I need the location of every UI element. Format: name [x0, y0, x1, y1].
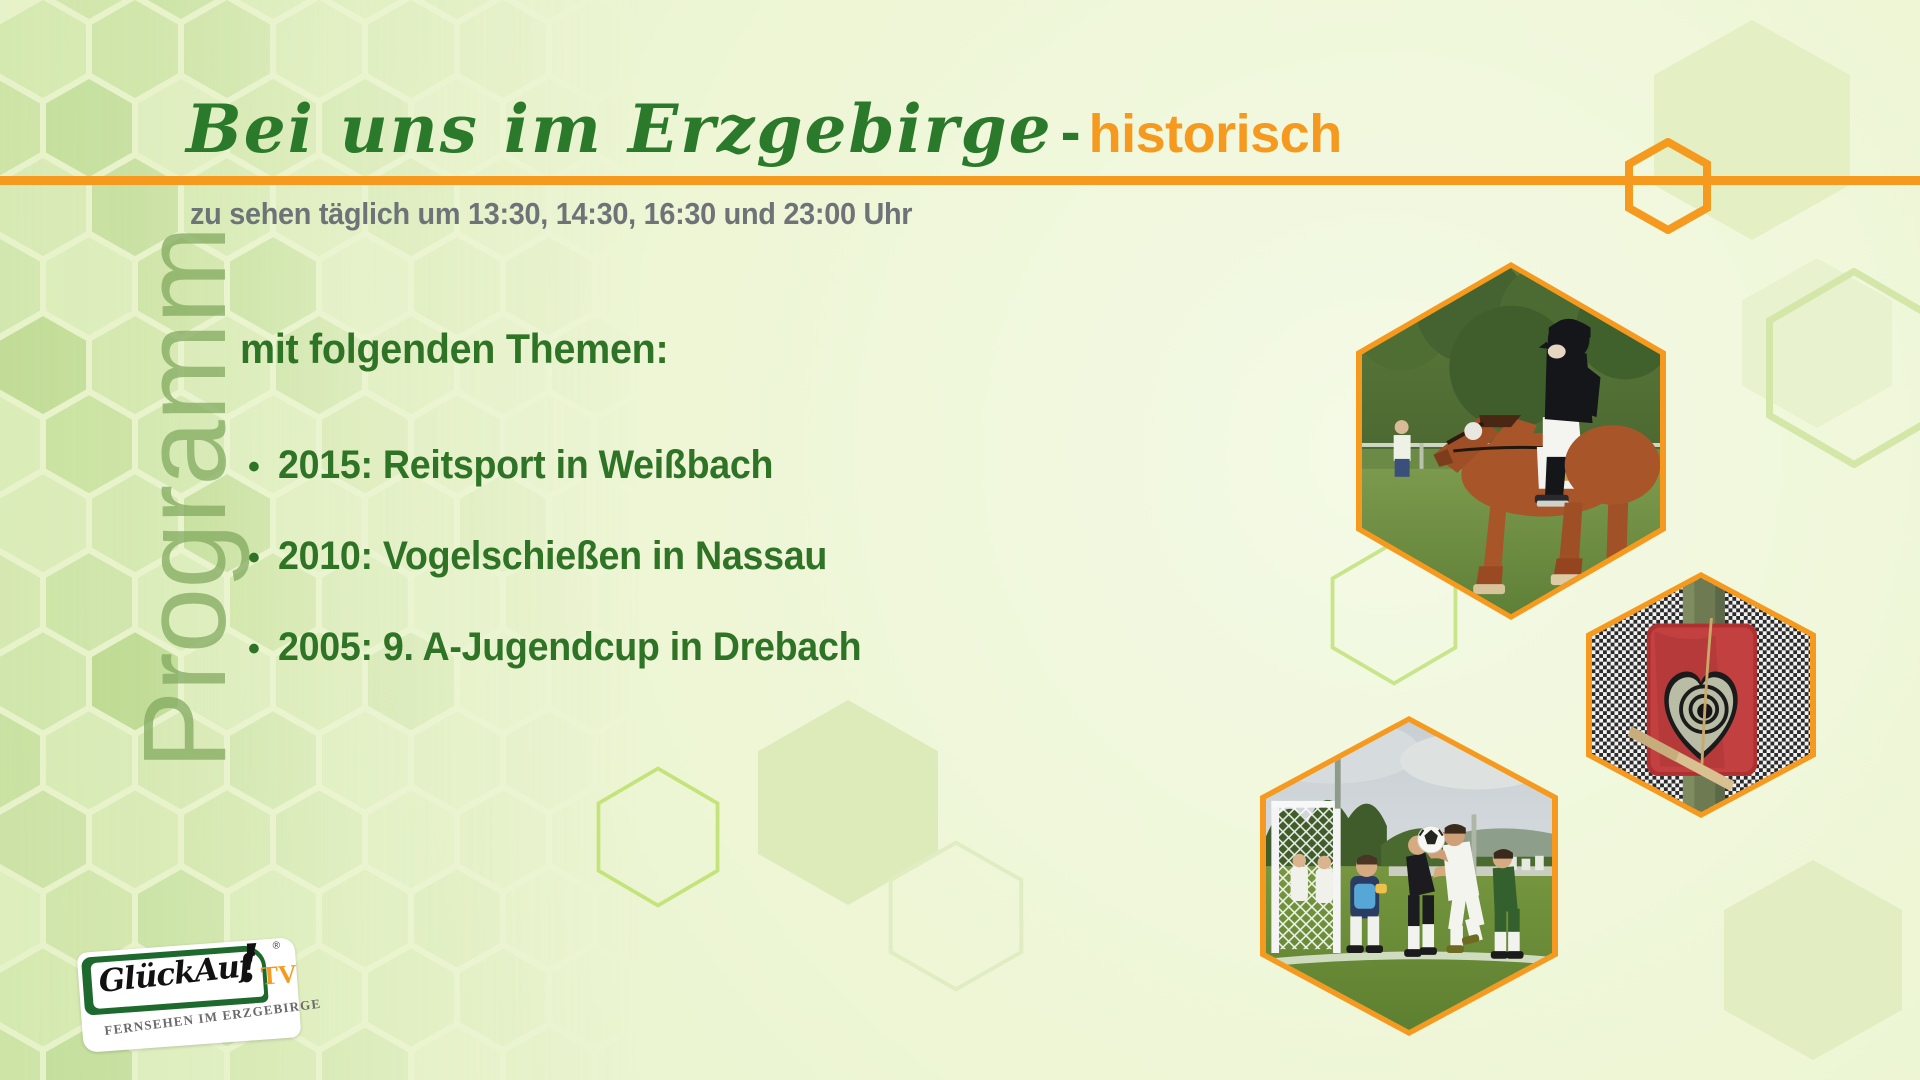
honeycomb-cell [690, 0, 776, 19]
honeycomb-cell [690, 237, 776, 335]
honeycomb-cell [92, 474, 178, 572]
honeycomb-cell [644, 0, 730, 98]
header-rule-hexagon-icon [1625, 138, 1711, 234]
logo-tv-text: TV [260, 959, 298, 992]
logo-registered-icon: ® [272, 940, 280, 952]
page-title: Bei uns im Erzgebirge-historisch [186, 96, 1342, 162]
honeycomb-cell [138, 553, 224, 651]
honeycomb-cell [0, 948, 86, 1046]
topic-label: 2015: Reitsport in Weißbach [278, 443, 773, 488]
honeycomb-cell [322, 237, 408, 335]
page-title-main: Bei uns im Erzgebirge [186, 90, 1053, 168]
broadcast-slide: Programm Bei uns im Erzgebirge-historisc… [0, 0, 1920, 1080]
decorative-hexagon-outline [1766, 268, 1920, 468]
honeycomb-cell [92, 790, 178, 888]
honeycomb-cell [46, 553, 132, 651]
honeycomb-cell [0, 632, 86, 730]
honeycomb-cell [782, 0, 868, 19]
photo-shooting-target [1586, 572, 1816, 818]
honeycomb-cell [0, 0, 86, 98]
decorative-hexagon-filled [1724, 860, 1902, 1060]
honeycomb-cell [368, 0, 454, 98]
honeycomb-cell [414, 237, 500, 335]
topics-list: • 2015: Reitsport in Weißbach • 2010: Vo… [248, 443, 899, 716]
honeycomb-cell [552, 0, 638, 98]
photo-equestrian [1356, 262, 1666, 620]
honeycomb-cell [506, 237, 592, 335]
page-title-accent: historisch [1089, 104, 1342, 164]
honeycomb-cell [92, 632, 178, 730]
honeycomb-cell [322, 711, 408, 809]
honeycomb-cell [736, 316, 822, 414]
honeycomb-cell [46, 711, 132, 809]
logo-exclamation-icon: ! [236, 938, 263, 992]
honeycomb-cell [184, 0, 270, 98]
honeycomb-cell [276, 790, 362, 888]
bullet-marker-icon: • [248, 541, 278, 575]
list-item: • 2010: Vogelschießen in Nassau [248, 534, 899, 579]
honeycomb-cell [138, 237, 224, 335]
honeycomb-cell [782, 1028, 868, 1080]
decorative-hexagon-outline [888, 840, 1024, 992]
honeycomb-cell [230, 237, 316, 335]
list-item: • 2005: 9. A-Jugendcup in Drebach [248, 625, 899, 670]
honeycomb-cell [46, 237, 132, 335]
honeycomb-cell [230, 711, 316, 809]
honeycomb-cell [322, 869, 408, 967]
honeycomb-cell [460, 948, 546, 1046]
honeycomb-cell [0, 316, 86, 414]
honeycomb-cell [368, 790, 454, 888]
honeycomb-cell [276, 0, 362, 98]
honeycomb-cell [138, 711, 224, 809]
honeycomb-cell [736, 0, 822, 98]
honeycomb-cell [0, 474, 86, 572]
broadcast-times-subtitle: zu sehen täglich um 13:30, 14:30, 16:30 … [190, 196, 912, 232]
honeycomb-cell [0, 553, 40, 651]
honeycomb-cell [0, 790, 86, 888]
honeycomb-cell [184, 790, 270, 888]
honeycomb-cell [460, 790, 546, 888]
honeycomb-cell [552, 948, 638, 1046]
honeycomb-cell [92, 316, 178, 414]
honeycomb-cell [46, 395, 132, 493]
honeycomb-cell [92, 0, 178, 98]
honeycomb-cell [0, 711, 40, 809]
honeycomb-cell [46, 79, 132, 177]
honeycomb-cell [138, 395, 224, 493]
honeycomb-cell [414, 869, 500, 967]
honeycomb-cell [690, 1028, 776, 1080]
honeycomb-cell [598, 237, 684, 335]
bullet-marker-icon: • [248, 632, 278, 666]
topics-lead: mit folgenden Themen: [240, 325, 668, 373]
page-title-dash: - [1053, 98, 1089, 165]
list-item: • 2015: Reitsport in Weißbach [248, 443, 899, 488]
honeycomb-cell [506, 869, 592, 967]
honeycomb-cell [0, 869, 40, 967]
honeycomb-cell [0, 158, 86, 256]
channel-logo[interactable]: GlückAuf ! ® TV FERNSEHEN IM ERZGEBIRGE [77, 937, 302, 1053]
bullet-marker-icon: • [248, 450, 278, 484]
honeycomb-cell [460, 0, 546, 98]
honeycomb-cell [414, 711, 500, 809]
honeycomb-cell [368, 948, 454, 1046]
topic-label: 2010: Vogelschießen in Nassau [278, 534, 827, 579]
equestrian-image [1362, 268, 1660, 614]
honeycomb-cell [644, 948, 730, 1046]
honeycomb-cell [92, 158, 178, 256]
honeycomb-cell [782, 237, 868, 335]
honeycomb-cell [506, 711, 592, 809]
decorative-hexagon-outline [596, 766, 720, 908]
football-image [1266, 722, 1552, 1030]
honeycomb-cell [0, 79, 40, 177]
honeycomb-cell [736, 948, 822, 1046]
honeycomb-cell [0, 237, 40, 335]
topic-label: 2005: 9. A-Jugendcup in Drebach [278, 625, 861, 670]
honeycomb-cell [0, 395, 40, 493]
photo-football [1260, 716, 1558, 1036]
